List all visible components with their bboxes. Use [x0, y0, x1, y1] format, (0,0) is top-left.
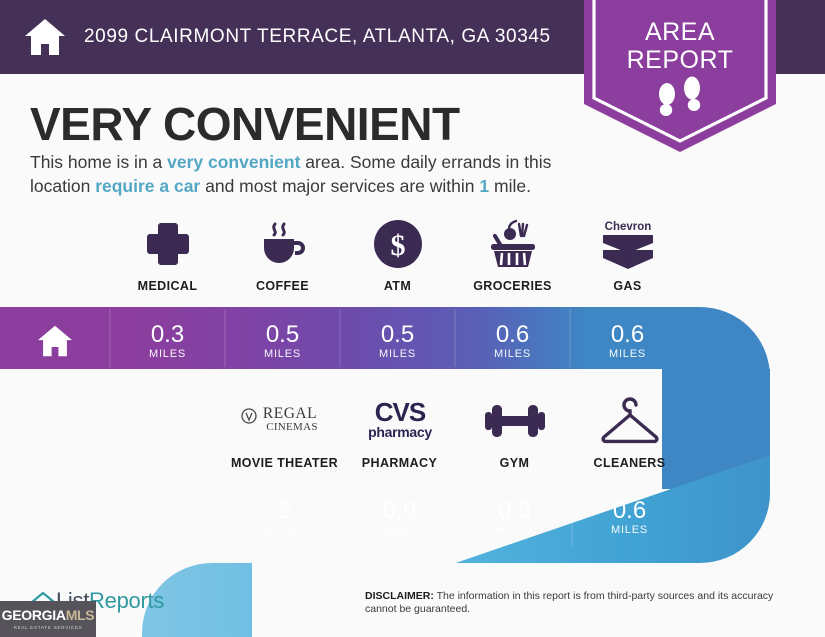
- value-unit: MILES: [379, 348, 416, 360]
- value-number: 0.3: [151, 322, 184, 347]
- value-unit: MILES: [611, 524, 648, 536]
- blurb-highlight-2: require a car: [95, 176, 200, 196]
- home-icon: [36, 324, 74, 358]
- value-unit: MILES: [149, 348, 186, 360]
- mls-part-a: GEORGIA: [2, 607, 66, 623]
- area-report-badge: AREA REPORT: [584, 0, 776, 152]
- category-atm: $ ATM: [340, 218, 455, 293]
- mls-wordmark: GEORGIAMLS: [2, 608, 95, 623]
- svg-text:REGAL: REGAL: [262, 405, 316, 422]
- svg-text:CVS: CVS: [374, 397, 425, 427]
- category-label: CLEANERS: [594, 456, 666, 470]
- secondary-distance-values: 2 MILES 0.9 MILES 0.8 MILES 0.6 MILES: [227, 488, 687, 545]
- value-cell-medical: 0.3 MILES: [110, 312, 225, 369]
- home-icon: [24, 17, 66, 57]
- category-label: GAS: [613, 279, 641, 293]
- value-number: 0.5: [266, 322, 299, 347]
- svg-text:pharmacy: pharmacy: [368, 424, 432, 440]
- cvs-pharmacy-logo-icon: CVS pharmacy: [361, 395, 439, 447]
- primary-category-icons: MEDICAL COFFEE $ ATM: [110, 218, 685, 293]
- blurb-part-4: mile.: [489, 176, 531, 196]
- disclaimer: DISCLAIMER: The information in this repo…: [365, 590, 795, 616]
- value-cell-cleaners: 0.6 MILES: [572, 488, 687, 545]
- category-groceries: GROCERIES: [455, 218, 570, 293]
- category-gym: GYM: [457, 395, 572, 470]
- blurb-part-1: This home is in a: [30, 152, 167, 172]
- value-cell-groceries: 0.6 MILES: [455, 312, 570, 369]
- dumbbell-icon: [483, 395, 547, 447]
- regal-cinemas-logo-icon: REGAL CINEMAS: [237, 395, 333, 447]
- value-unit: MILES: [609, 348, 646, 360]
- summary-paragraph: This home is in a very convenient area. …: [30, 150, 590, 198]
- blurb-part-3: and most major services are within: [200, 176, 479, 196]
- coffee-cup-icon: [256, 218, 310, 270]
- svg-text:Chevron: Chevron: [604, 221, 651, 233]
- blurb-highlight-3: 1: [479, 176, 489, 196]
- value-cell-coffee: 0.5 MILES: [225, 312, 340, 369]
- area-report-page: 2099 CLAIRMONT TERRACE, ATLANTA, GA 3034…: [0, 0, 825, 637]
- value-unit: MILES: [381, 524, 418, 536]
- badge-text: AREA REPORT: [584, 18, 776, 74]
- value-cell-pharmacy: 0.9 MILES: [342, 488, 457, 545]
- dollar-circle-icon: $: [373, 218, 423, 270]
- badge-line-2: REPORT: [584, 46, 776, 74]
- value-cell-gas: 0.6 MILES: [570, 312, 685, 369]
- value-unit: MILES: [496, 524, 533, 536]
- value-unit: MILES: [264, 348, 301, 360]
- clothes-hanger-icon: [599, 395, 661, 447]
- value-number: 0.6: [613, 498, 646, 523]
- category-label: MOVIE THEATER: [231, 456, 338, 470]
- disclaimer-label: DISCLAIMER:: [365, 590, 434, 602]
- category-coffee: COFFEE: [225, 218, 340, 293]
- value-unit: MILES: [266, 524, 303, 536]
- category-medical: MEDICAL: [110, 218, 225, 293]
- primary-distance-values: 0.3 MILES 0.5 MILES 0.5 MILES 0.6 MILES …: [110, 312, 685, 369]
- mls-tagline: REAL ESTATE SERVICES: [14, 625, 83, 630]
- value-number: 0.6: [496, 322, 529, 347]
- value-number: 0.5: [381, 322, 414, 347]
- svg-text:$: $: [390, 229, 405, 262]
- value-number: 2: [278, 498, 291, 523]
- badge-line-1: AREA: [584, 18, 776, 46]
- category-label: MEDICAL: [138, 279, 198, 293]
- value-cell-atm: 0.5 MILES: [340, 312, 455, 369]
- secondary-category-icons: REGAL CINEMAS MOVIE THEATER CVS pharmacy…: [227, 395, 687, 470]
- category-label: COFFEE: [256, 279, 309, 293]
- georgia-mls-logo: GEORGIAMLS REAL ESTATE SERVICES: [0, 601, 96, 637]
- category-label: PHARMACY: [362, 456, 437, 470]
- property-address: 2099 CLAIRMONT TERRACE, ATLANTA, GA 3034…: [84, 26, 551, 48]
- ribbon-start-home: [0, 312, 110, 369]
- medical-cross-icon: [144, 218, 192, 270]
- value-number: 0.8: [498, 498, 531, 523]
- page-title: VERY CONVENIENT: [30, 98, 460, 150]
- category-label: GYM: [500, 456, 530, 470]
- value-cell-movie-theater: 2 MILES: [227, 488, 342, 545]
- chevron-logo-icon: Chevron: [597, 218, 659, 270]
- category-label: GROCERIES: [473, 279, 552, 293]
- shopping-basket-icon: [485, 218, 541, 270]
- blurb-highlight-1: very convenient: [167, 152, 300, 172]
- value-cell-gym: 0.8 MILES: [457, 488, 572, 545]
- category-pharmacy: CVS pharmacy PHARMACY: [342, 395, 457, 470]
- category-gas: Chevron GAS: [570, 218, 685, 293]
- value-unit: MILES: [494, 348, 531, 360]
- mls-part-b: MLS: [66, 607, 95, 623]
- category-cleaners: CLEANERS: [572, 395, 687, 470]
- category-movie-theater: REGAL CINEMAS MOVIE THEATER: [227, 395, 342, 470]
- value-number: 0.6: [611, 322, 644, 347]
- category-label: ATM: [384, 279, 411, 293]
- brand-part-b: Reports: [89, 588, 164, 613]
- value-number: 0.9: [383, 498, 416, 523]
- svg-text:CINEMAS: CINEMAS: [266, 421, 318, 433]
